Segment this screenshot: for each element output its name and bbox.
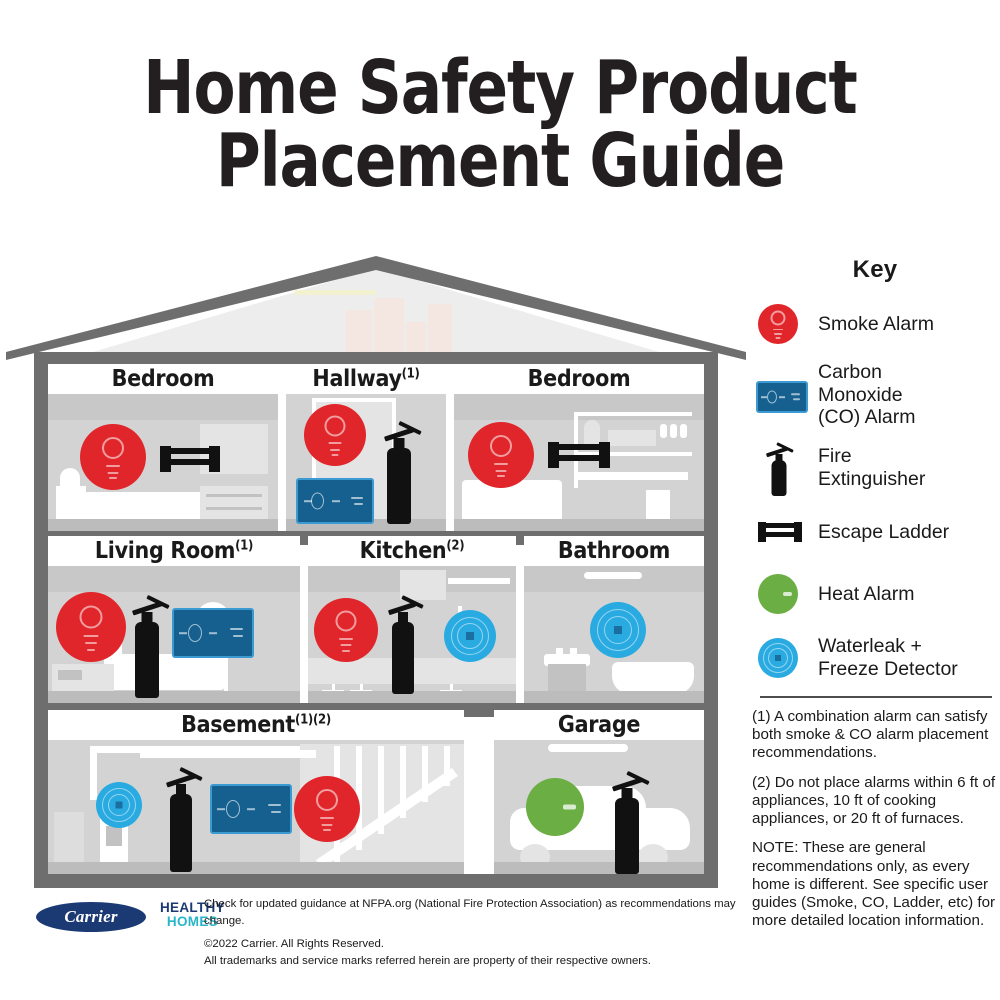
legend-label: Waterleak + Freeze Detector [818,635,958,680]
room-banner: Bedroom [454,364,704,394]
decor-2 [670,424,677,438]
legend-item-co-alarm: Carbon Monoxide (CO) Alarm [752,360,998,430]
fire-extinguisher-icon [160,762,202,872]
smoke-alarm-icon [752,298,818,350]
heat-alarm-icon [752,568,818,620]
room-footnote: (1)(2) [295,712,331,727]
furnace-panel [106,826,122,846]
bed [84,492,204,522]
legend-label-line-1: Fire [818,445,925,468]
smoke-alarm-icon [294,776,360,842]
room-title: Bathroom [558,538,670,564]
decor-3 [680,424,687,438]
legend-divider [760,696,992,698]
bed [462,480,562,524]
escape-ladder-icon [752,506,818,558]
waterleak-freeze-detector-icon [96,782,142,828]
co-alarm-icon [210,784,292,834]
fire-extinguisher-icon [606,766,648,874]
legend-label-line-2: Monoxide [818,384,916,407]
page-title: Home Safety Product Placement Guide [40,52,960,197]
smoke-alarm-icon [56,592,126,662]
room-scene [524,566,704,703]
footer-line-2: ©2022 Carrier. All Rights Reserved. [204,936,744,953]
roof-outline [6,248,746,360]
room-scene [494,740,704,874]
room-title: Bedroom [528,366,631,392]
garage-light [548,744,628,752]
room-kitchen: Kitchen(2) [308,536,516,703]
legend-heading: Key [752,256,998,284]
room-scene [454,394,704,531]
floor-strip [454,519,704,531]
desk [578,472,688,480]
legend-item-fire-extinguisher: Fire Extinguisher [752,440,998,496]
footnote-note: NOTE: These are general recommendations … [752,839,998,930]
room-banner: Garage [494,710,704,740]
room-banner: Living Room(1) [48,536,300,566]
wall-upper [48,394,278,420]
footer-line-3: All trademarks and service marks referre… [204,953,744,970]
wall-upper [48,566,300,592]
legend-label-line-1: Waterleak + [818,635,958,658]
room-title: Living Room(1) [95,538,253,564]
smoke-alarm-icon [80,424,146,490]
legend-label-line-1: Carbon [818,361,916,384]
room-scene [286,394,446,531]
legend-label: Carbon Monoxide (CO) Alarm [818,361,916,429]
legend-label: Smoke Alarm [818,313,934,336]
room-banner: Bedroom [48,364,278,394]
escape-ladder-icon [548,442,610,468]
footer-line-1: Check for updated guidance at NFPA.org (… [204,896,744,930]
waterleak-freeze-detector-icon [444,610,496,662]
room-footnote: (1) [235,538,253,553]
ceiling-band [34,352,718,364]
vanity-light [584,572,642,579]
legend-item-waterleak-detector: Waterleak + Freeze Detector [752,630,998,686]
co-alarm-icon [752,369,818,421]
books [608,430,656,446]
floor-strip [48,519,278,531]
room-bedroom-right: Bedroom [454,364,704,531]
wall-upper [454,394,704,420]
floor-strip [48,691,300,703]
legend-label: Fire Extinguisher [818,445,925,490]
legend-label-line-3: (CO) Alarm [818,406,916,429]
house-diagram: Bedroom [6,248,746,888]
heat-alarm-icon [526,778,584,836]
bathtub [612,662,694,694]
legend-label-line-2: Extinguisher [818,468,925,491]
room-banner: Hallway(1) [286,364,446,394]
smoke-alarm-icon [304,404,366,466]
legend-item-heat-alarm: Heat Alarm [752,568,998,620]
waterleak-freeze-detector-icon [752,632,818,684]
shelf-top [574,412,692,416]
carrier-logo: Carrier [36,902,146,932]
room-scene [48,566,300,703]
room-banner: Kitchen(2) [308,536,516,566]
legend-item-escape-ladder: Escape Ladder [752,506,998,558]
legend-label: Escape Ladder [818,521,949,544]
room-living-room: Living Room(1) [48,536,300,703]
roof [6,248,746,360]
decor-1 [660,424,667,438]
room-title: Bedroom [112,366,215,392]
floor-strip [494,862,704,874]
room-footnote: (1) [402,366,420,381]
legend-label-line-2: Freeze Detector [818,658,958,681]
legend-item-smoke-alarm: Smoke Alarm [752,298,998,350]
footnote-2: (2) Do not place alarms within 6 ft of a… [752,774,998,829]
room-title: Garage [558,712,640,738]
fire-extinguisher-icon [752,442,818,494]
counter-shelf [448,578,510,584]
footnote-1: (1) A combination alarm can satisfy both… [752,708,998,763]
fire-extinguisher-icon [382,590,424,694]
room-garage: Garage [494,710,704,874]
floor-strip [48,862,464,874]
room-bedroom-left: Bedroom [48,364,278,531]
title-line-2: Placement Guide [40,125,960,198]
room-title: Hallway(1) [312,366,419,392]
room-title: Basement(1)(2) [181,712,331,738]
drawer-line-2 [206,507,262,510]
house-wall-right [704,352,718,888]
fire-extinguisher-icon [126,590,168,698]
house-wall-left [34,352,48,888]
co-alarm-icon [296,478,374,524]
room-title: Kitchen(2) [360,538,465,564]
legend: Key Smoke Alarm [752,256,998,942]
escape-ladder-icon [160,446,220,472]
smoke-alarm-icon [468,422,534,488]
faucet-handle-1 [556,648,563,656]
co-alarm-icon [172,608,254,658]
room-footnote: (2) [446,538,464,553]
fire-extinguisher-icon [378,416,420,524]
floor-strip [524,691,704,703]
room-scene [48,394,278,531]
room-banner: Bathroom [524,536,704,566]
room-bathroom: Bathroom [524,536,704,703]
room-banner: Basement(1)(2) [48,710,464,740]
nightstand [56,486,86,522]
lamp [60,468,80,488]
smoke-alarm-icon [314,598,378,662]
waterleak-freeze-detector-icon [590,602,646,658]
wall-upper [524,566,704,592]
room-hallway: Hallway(1) [286,364,446,531]
room-scene [48,740,464,874]
room-scene [308,566,516,703]
infographic-page: Home Safety Product Placement Guide Be [0,0,1000,1000]
console-drawer [58,670,82,680]
legend-label: Heat Alarm [818,583,914,606]
carrier-logo-text: Carrier [64,907,117,927]
room-basement: Basement(1)(2) [48,710,464,874]
footer-text: Check for updated guidance at NFPA.org (… [204,896,744,970]
faucet-handle-2 [570,648,577,656]
drawer-line-1 [206,494,262,497]
house-foundation [34,874,718,888]
